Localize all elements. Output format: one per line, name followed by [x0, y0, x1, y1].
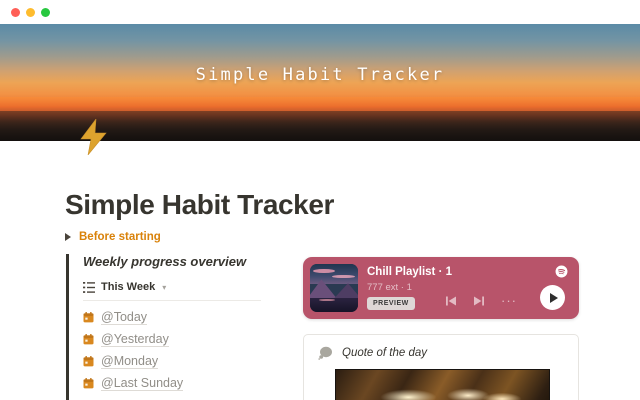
list-item-label: @Last Sunday — [101, 376, 183, 391]
close-button[interactable] — [11, 8, 20, 17]
list-item-label: @Today — [101, 310, 147, 325]
quote-of-the-day-header: Quote of the day — [304, 335, 578, 360]
speech-bubble-icon — [318, 346, 333, 360]
track-subtitle: 777 ext · 1 — [367, 282, 412, 293]
calendar-icon — [83, 334, 94, 345]
page-title: Simple Habit Tracker — [65, 189, 334, 221]
more-options-icon[interactable]: ··· — [501, 297, 517, 305]
minimize-button[interactable] — [26, 8, 35, 17]
view-selector[interactable]: This Week ▾ — [83, 281, 261, 301]
app-window: Simple Habit Tracker Simple Habit Tracke… — [0, 0, 640, 400]
view-selector-label: This Week — [101, 281, 155, 293]
calendar-icon — [83, 378, 94, 389]
quote-of-the-day-label: Quote of the day — [342, 347, 427, 359]
track-title: Chill Playlist · 1 — [367, 266, 452, 278]
quote-of-the-day-card[interactable]: Quote of the day — [303, 334, 579, 400]
quote-block-heading: Weekly progress overview — [83, 254, 271, 269]
chevron-down-icon[interactable]: ▾ — [162, 283, 166, 292]
calendar-icon — [83, 312, 94, 323]
play-button[interactable] — [540, 285, 565, 310]
album-art-sky — [310, 264, 358, 284]
list-item-label: @Yesterday — [101, 332, 169, 347]
spotify-player-card[interactable]: Chill Playlist · 1 777 ext · 1 PREVIEW ·… — [303, 257, 579, 319]
list-item[interactable]: @Last Sunday — [83, 376, 271, 391]
play-icon — [550, 293, 558, 303]
list-item[interactable]: @Today — [83, 310, 271, 325]
album-art-cloud — [313, 269, 335, 273]
weekly-progress-quote-block: Weekly progress overview This Week ▾ — [66, 254, 271, 400]
list-view-icon — [83, 282, 95, 293]
playback-controls: ··· — [445, 295, 517, 307]
quote-of-the-day-image — [335, 369, 550, 400]
list-item[interactable]: @Monday — [83, 354, 271, 369]
window-titlebar — [0, 0, 640, 24]
toggle-before-starting[interactable]: Before starting — [65, 231, 161, 243]
preview-badge: PREVIEW — [367, 297, 415, 310]
skip-previous-icon[interactable] — [445, 295, 457, 307]
list-item[interactable]: @Yesterday — [83, 332, 271, 347]
lightning-bolt-icon[interactable] — [74, 117, 114, 157]
album-art — [310, 264, 358, 312]
spotify-logo-icon[interactable] — [555, 265, 568, 278]
calendar-icon — [83, 356, 94, 367]
skip-next-icon[interactable] — [473, 295, 485, 307]
chevron-right-icon[interactable] — [65, 233, 71, 241]
list-item-label: @Monday — [101, 354, 158, 369]
toggle-label: Before starting — [79, 231, 161, 243]
maximize-button[interactable] — [41, 8, 50, 17]
